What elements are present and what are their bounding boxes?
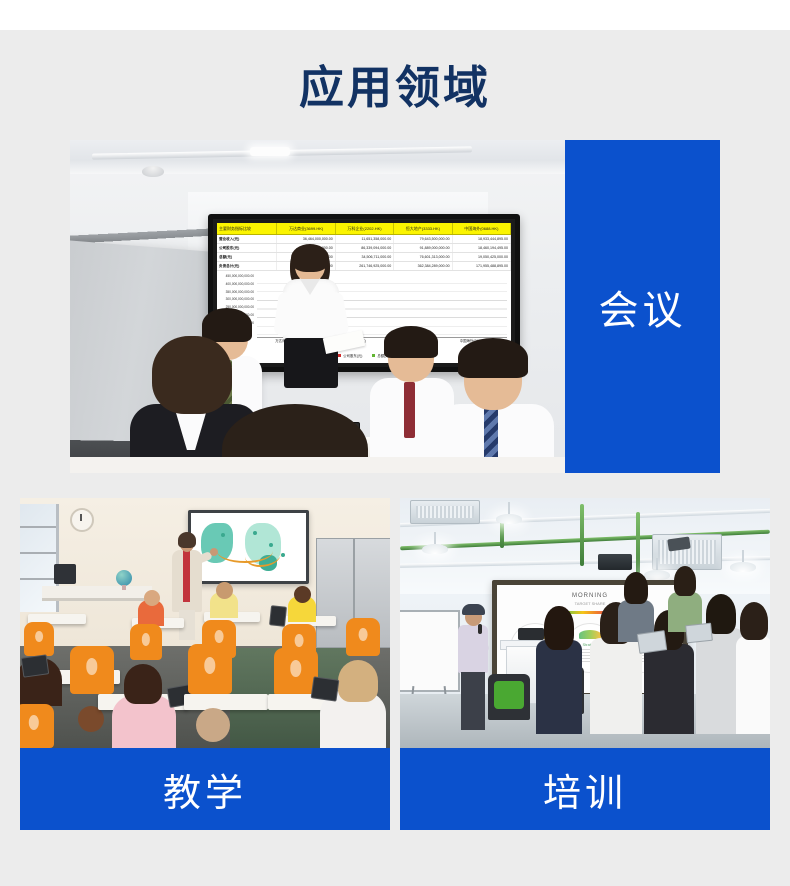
pendant-lamp [496, 514, 522, 524]
training-photo: MORNING TARGET SHARE Teamwork Strategy P… [400, 498, 770, 748]
student-chair [188, 644, 232, 694]
student-head [294, 586, 311, 603]
cell: 36,464,000,000.00 [277, 235, 335, 243]
table-row: 营业收入(元) 36,464,000,000.00 11,651,358,000… [217, 235, 511, 244]
audience-figure [536, 606, 582, 734]
presenter-figure [456, 606, 490, 730]
student-head [124, 664, 162, 704]
attendee-figure [440, 338, 552, 473]
cell: 171,955,488,895.00 [453, 262, 511, 270]
wall-clock-icon [70, 508, 94, 532]
student-desk [184, 694, 268, 710]
table-row: 总额(元) 157,100,000,000.00 34,506,711,000.… [217, 253, 511, 262]
student-chair [130, 624, 162, 660]
cell: 18,933,444,895.00 [453, 235, 511, 243]
sheet-head-cell: 万科企业(2202.HK) [336, 223, 394, 234]
cell: 76,601,313,000.00 [394, 253, 452, 261]
sheet-head-cell: 中国海外(0688.HK) [453, 223, 511, 234]
y-tick: 300,000,000,000.00 [218, 296, 256, 304]
student-head [338, 660, 378, 702]
table-row: 负债总计(元) 405,102,000,000.00 261,746,925,0… [217, 262, 511, 271]
pendant-lamp [730, 562, 756, 572]
audience-figure [668, 566, 702, 632]
cell: 19,050,425,000.00 [453, 253, 511, 261]
tablet-device [21, 654, 50, 677]
cell: 91,889,000,000.00 [394, 244, 452, 252]
y-tick: 400,000,000,000.00 [218, 281, 256, 289]
y-tick: 450,000,000,000.00 [218, 273, 256, 281]
tablet-device [311, 676, 340, 701]
training-label-panel[interactable]: 培训 [400, 748, 770, 830]
cell: 79,643,500,000.00 [394, 235, 452, 243]
teaching-label-panel[interactable]: 教学 [20, 748, 390, 830]
sheet-head-cell: 恒大地产(3333.HK) [394, 223, 452, 234]
interactive-whiteboard [188, 510, 309, 584]
spreadsheet-header-row: 主要财务指标比较 万达商业(3699.HK) 万科企业(2202.HK) 恒大地… [217, 223, 511, 235]
training-label-text: 培训 [543, 762, 627, 817]
laptop-device [685, 623, 713, 644]
cell: 86,339,094,000.00 [336, 244, 394, 252]
student-chair [24, 622, 54, 656]
sheet-head-cell: 万达商业(3699.HK) [277, 223, 335, 234]
conference-floor [70, 457, 565, 473]
sheet-head-cell: 主要财务指标比较 [217, 223, 277, 234]
projector-device [598, 554, 632, 570]
section-training[interactable]: MORNING TARGET SHARE Teamwork Strategy P… [400, 498, 770, 830]
audience-chair [488, 674, 530, 720]
audience-figure [736, 602, 770, 734]
cell: 362,384,289,000.00 [394, 262, 452, 270]
smoke-detector-icon [142, 166, 164, 177]
cell: 负债总计(元) [217, 262, 277, 270]
teacher-desk [42, 586, 152, 601]
ceiling-pipe [500, 520, 504, 548]
cell: 11,651,358,000.00 [336, 235, 394, 243]
student-head [216, 582, 233, 599]
cell: 261,746,925,000.00 [336, 262, 394, 270]
section-conference[interactable]: 主要财务指标比较 万达商业(3699.HK) 万科企业(2202.HK) 恒大地… [70, 140, 720, 473]
student-head [196, 708, 230, 742]
conference-label-panel[interactable]: 会议 [565, 140, 720, 473]
page-title: 应用领域 [0, 58, 790, 118]
flip-chart-board [400, 610, 460, 692]
presenter-figure [278, 248, 344, 388]
student-chair [70, 646, 114, 694]
classroom-photo [20, 498, 390, 748]
application-cards: 教学 [20, 498, 770, 830]
ceiling-light [250, 147, 290, 156]
cell: 18,460,194,495.00 [453, 244, 511, 252]
teaching-label-text: 教学 [163, 762, 247, 817]
cell: 公司股东(元) [217, 244, 277, 252]
student-head [144, 590, 160, 606]
cell: 总额(元) [217, 253, 277, 261]
legend-label: 公司股东(元) [343, 354, 362, 358]
globe-icon [116, 570, 132, 586]
page-root: 应用领域 主要财务指标比较 万达商业(3699.HK) 万科企业(2202.HK… [0, 0, 790, 886]
laptop-device [637, 630, 668, 654]
slide-title: MORNING [497, 593, 683, 599]
spreadsheet-rows: 营业收入(元) 36,464,000,000.00 11,651,358,000… [217, 235, 511, 271]
table-row: 公司股东(元) 52,743,000,000.00 86,339,094,000… [217, 244, 511, 253]
section-teaching[interactable]: 教学 [20, 498, 390, 830]
ceiling-pipe [580, 504, 584, 566]
pendant-lamp [422, 544, 448, 554]
conference-photo: 主要财务指标比较 万达商业(3699.HK) 万科企业(2202.HK) 恒大地… [70, 140, 565, 473]
desk-monitor [54, 564, 76, 584]
cell: 营业收入(元) [217, 235, 277, 243]
tablet-device [269, 605, 287, 627]
y-tick: 350,000,000,000.00 [218, 289, 256, 297]
student-chair [20, 704, 54, 748]
air-conditioner-unit [410, 500, 480, 524]
student-chair [346, 618, 380, 656]
cell: 34,506,711,000.00 [336, 253, 394, 261]
conference-label-text: 会议 [565, 140, 720, 473]
